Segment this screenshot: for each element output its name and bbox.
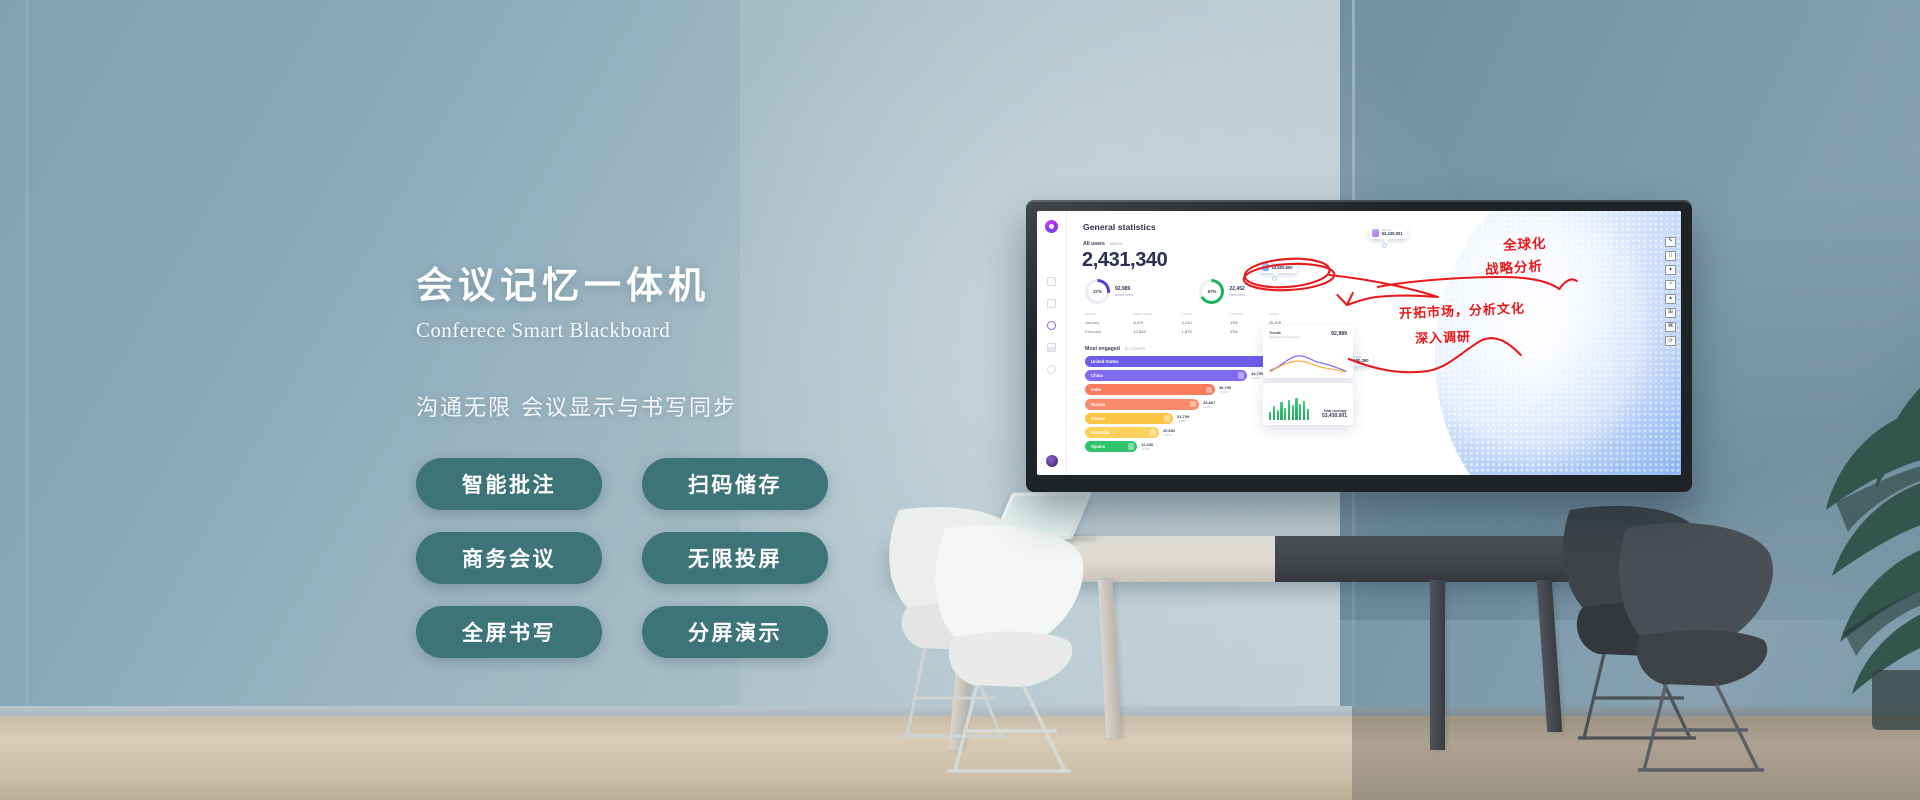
trends-card-subtitle: Compared to 12% last year (1269, 336, 1299, 339)
pill-unlimited-casting[interactable]: 无限投屏 (642, 532, 828, 584)
globe-shading (1435, 211, 1681, 475)
feature-pill-group: 智能批注扫码储存商务会议无限投屏全屏书写分屏演示 (416, 458, 886, 658)
country-bar-row[interactable]: Australia20,602+4,112 (1085, 427, 1335, 438)
analytics-icon[interactable] (1047, 321, 1056, 330)
donut-value: 22,452 (1229, 286, 1245, 292)
country-flag-icon (1190, 401, 1197, 408)
country-name: Spains (1091, 444, 1105, 449)
country-value: 33,867 (1203, 400, 1215, 405)
country-name: India (1091, 387, 1101, 392)
donut-value: 92,989 (1115, 286, 1133, 292)
trends-card-value: 92,989 (1331, 331, 1347, 337)
annotation-toolbar[interactable]: ✎▯✦✧▴⊞⌘⟳ (1665, 237, 1676, 346)
country-bar: Russia (1085, 399, 1199, 410)
map-tooltip-icon (1372, 229, 1380, 237)
all-users-label: All users (1083, 241, 1105, 247)
trends-card-header: Trends Compared to 12% last year 92,989 (1269, 331, 1347, 339)
table-cell: 12,543 (1133, 329, 1181, 334)
page-title: General statistics (1083, 222, 1156, 232)
pill-smart-annotation[interactable]: 智能批注 (416, 458, 602, 510)
display-screen[interactable]: General statistics All users MONTH 2,431… (1037, 211, 1681, 475)
donut-active-users: 27% 92,989 Active users (1085, 279, 1133, 304)
trends-sparkline (1268, 350, 1348, 374)
country-value-group: 44,790+9,215 (1251, 371, 1263, 380)
table-header-cell: TRAFFIC (1230, 312, 1269, 316)
table-leg (1430, 580, 1445, 750)
page-subtitle: Conferece Smart Blackboard (416, 318, 886, 343)
country-delta: +2,870 (1141, 447, 1153, 451)
table-icon[interactable]: ⊞ (1665, 308, 1676, 318)
country-flag-icon (1206, 387, 1213, 394)
country-delta: +9,215 (1251, 376, 1263, 380)
country-name: France (1091, 416, 1105, 421)
table-row: January 8,470 3,210 13% 25,325 (1085, 320, 1317, 325)
country-bar: United States (1085, 356, 1279, 367)
table-cell: 3,210 (1182, 320, 1230, 325)
country-bar: Australia (1085, 427, 1159, 438)
donut-new-users: 67% 22,452 New users (1199, 279, 1245, 304)
map-tooltip-icon (1262, 263, 1270, 271)
country-bar: France (1085, 413, 1173, 424)
dashboard-icon[interactable] (1047, 277, 1056, 286)
chair-right-front (1598, 512, 1798, 784)
country-flag-icon (1150, 429, 1157, 436)
country-name: Australia (1091, 430, 1109, 435)
donut-caption: New users (1229, 293, 1245, 297)
chair-left-front (905, 515, 1105, 785)
table-cell: 8,470 (1133, 320, 1181, 325)
most-engaged-subtitle: BY COUNTRY (1125, 347, 1146, 351)
country-bar: Spains (1085, 441, 1137, 452)
dashboard-sidebar (1037, 211, 1067, 475)
shape-icon[interactable]: ✦ (1665, 265, 1676, 275)
country-value-group: 12,430+2,870 (1141, 442, 1153, 451)
country-name: Russia (1091, 402, 1105, 407)
table-header-row: MONTH NEW USERS VISITS TRAFFIC TOTAL (1085, 312, 1317, 316)
reports-icon[interactable] (1047, 299, 1056, 308)
total-users-value: 2,431,340 (1082, 249, 1167, 272)
country-bar: China (1085, 370, 1247, 381)
donut-stats: 27% 92,989 Active users 67% 22,452 (1085, 279, 1246, 304)
pill-fullscreen-writing[interactable]: 全屏书写 (416, 606, 602, 658)
table-top-shadowed (1275, 536, 1580, 582)
country-delta: +7,320 (1219, 390, 1231, 394)
all-users-filter[interactable]: MONTH (1110, 242, 1122, 246)
most-engaged-header: Most engaged BY COUNTRY (1085, 346, 1146, 352)
map-tooltip-text: Washington 53,500,500 (1272, 263, 1293, 271)
donut-text: 22,452 New users (1229, 286, 1245, 297)
map-tooltip-text: Toronto 53,430,001 (1382, 229, 1403, 237)
most-engaged-title: Most engaged (1085, 346, 1120, 352)
coverage-card-text: Total coverage 53,430,001 (1322, 409, 1347, 419)
page-title-main: 会议记忆一体机 (416, 255, 886, 309)
trends-card-title: Trends (1269, 331, 1299, 335)
pill-qr-storage[interactable]: 扫码储存 (642, 458, 828, 510)
donut-text: 92,989 Active users (1115, 286, 1133, 297)
country-bar-row[interactable]: Spains12,430+2,870 (1085, 441, 1335, 452)
country-bar: India (1085, 384, 1215, 395)
donut-percent: 27% (1088, 282, 1107, 301)
donut-chart: 67% (1199, 279, 1224, 304)
map-tooltip[interactable]: Washington 53,500,500 (1259, 261, 1297, 273)
highlight-icon[interactable]: ✧ (1665, 280, 1676, 290)
country-value-group: 36,790+7,320 (1219, 385, 1231, 394)
coverage-bar-chart (1269, 398, 1309, 420)
share-icon[interactable]: ⟳ (1665, 336, 1676, 346)
country-delta: +4,112 (1163, 433, 1175, 437)
app-logo-icon (1045, 220, 1058, 233)
table-header-cell: NEW USERS (1133, 312, 1181, 316)
eraser-icon[interactable]: ▯ (1665, 251, 1676, 261)
country-flag-icon (1238, 372, 1245, 379)
all-users-row: All users MONTH (1083, 241, 1122, 247)
capture-icon[interactable]: ⌘ (1665, 322, 1676, 332)
scene-stage: General statistics All users MONTH 2,431… (0, 0, 1920, 800)
map-tooltip-value: 53,500,500 (1272, 266, 1293, 271)
country-delta: +4,880 (1177, 419, 1189, 423)
coverage-card: Total coverage 53,430,001 (1263, 383, 1353, 425)
country-name: United States (1091, 359, 1118, 364)
table-cell: January (1085, 320, 1133, 325)
country-value-group: 23,709+4,880 (1177, 414, 1189, 423)
pill-business-meeting[interactable]: 商务会议 (416, 532, 602, 584)
country-value-group: 33,867+6,201 (1203, 400, 1215, 409)
smart-blackboard-display[interactable]: General statistics All users MONTH 2,431… (1026, 200, 1692, 492)
map-tooltip[interactable]: Toronto 53,430,001 (1369, 227, 1407, 239)
map-tooltip-value: 53,430,001 (1382, 232, 1403, 237)
table-header-cell: MONTH (1085, 312, 1133, 316)
hero-tagline: 沟通无限 会议显示与书写同步 (416, 390, 886, 422)
map-marker-dot (1383, 244, 1386, 247)
country-flag-icon (1164, 415, 1171, 422)
dashboard-nav (1047, 277, 1056, 374)
select-icon[interactable]: ▴ (1665, 294, 1676, 304)
table-header-cell: TOTAL (1269, 312, 1317, 316)
world-map-globe (1435, 211, 1681, 475)
map-marker-dot (1273, 277, 1276, 280)
wall-seam-left (26, 0, 28, 740)
country-delta: +6,201 (1203, 405, 1215, 409)
country-flag-icon (1128, 443, 1135, 450)
table-cell: 13% (1230, 320, 1269, 325)
country-name: China (1091, 373, 1103, 378)
donut-caption: Active users (1115, 293, 1133, 297)
trends-card: Trends Compared to 12% last year 92,989 (1263, 326, 1353, 378)
donut-percent: 67% (1202, 282, 1221, 301)
table-cell: 25,325 (1269, 320, 1317, 325)
hero-copy: 会议记忆一体机 Conferece Smart Blackboard 沟通无限 … (416, 255, 886, 658)
database-icon[interactable] (1047, 343, 1056, 352)
country-value-group: 20,602+4,112 (1163, 428, 1175, 437)
table-cell: 1,879 (1182, 329, 1230, 334)
dashboard-main: General statistics All users MONTH 2,431… (1067, 211, 1681, 475)
donut-chart: 27% (1085, 279, 1110, 304)
pill-split-presentation[interactable]: 分屏演示 (642, 606, 828, 658)
settings-icon[interactable] (1047, 365, 1056, 374)
table-header-cell: VISITS (1182, 312, 1230, 316)
pen-icon[interactable]: ✎ (1665, 237, 1676, 247)
coverage-card-value: 53,430,001 (1322, 413, 1347, 419)
table-cell: February (1085, 329, 1133, 334)
avatar[interactable] (1046, 455, 1058, 467)
